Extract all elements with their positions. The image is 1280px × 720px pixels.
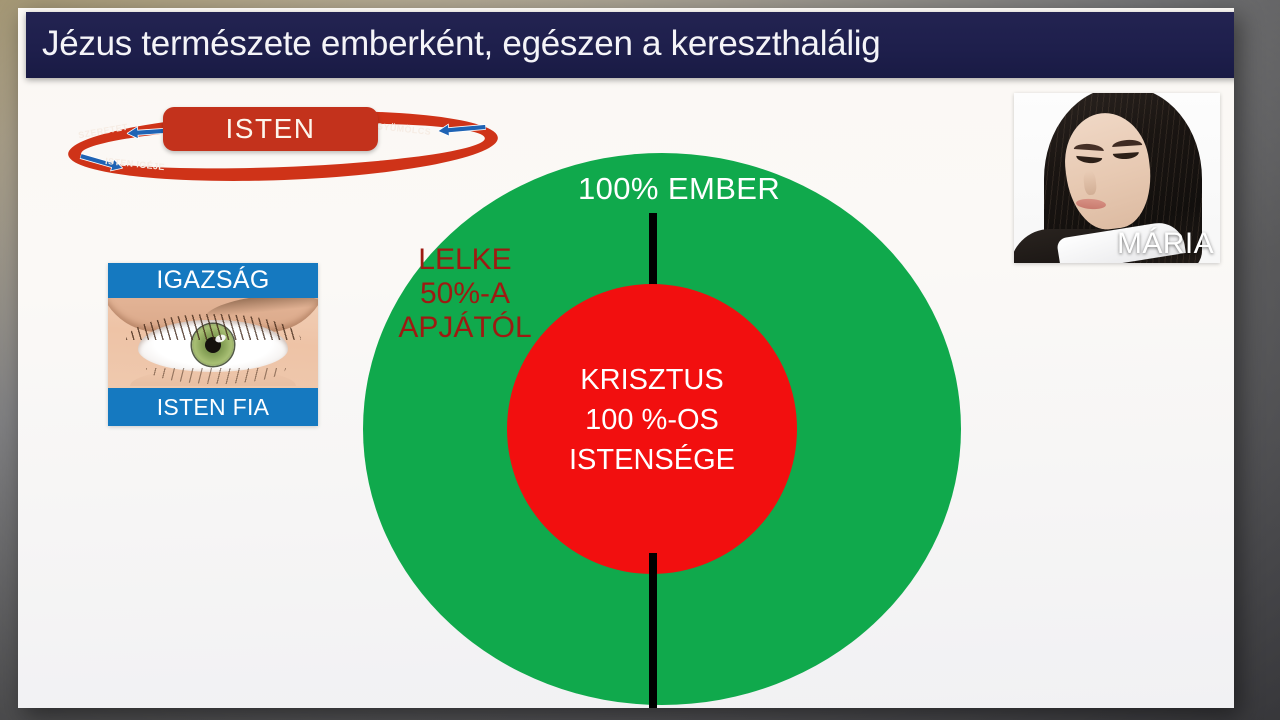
eye-photo	[108, 298, 318, 388]
truth-card: IGAZSÁG ISTEN FIA	[108, 263, 318, 426]
presentation-stage: Jézus természete emberként, egészen a ke…	[0, 0, 1280, 720]
isten-center-box: ISTEN	[163, 107, 378, 151]
human-nature-label: 100% EMBER	[578, 171, 780, 207]
maria-card: MÁRIA	[1014, 93, 1220, 263]
truth-card-top-bar: IGAZSÁG	[108, 263, 318, 298]
divine-nature-label: KRISZTUS 100 %-OS ISTENSÉGE	[507, 360, 797, 480]
truth-card-bottom-bar: ISTEN FIA	[108, 388, 318, 426]
divine-label-line-3: ISTENSÉGE	[507, 440, 797, 480]
maria-label: MÁRIA	[1117, 227, 1214, 261]
divider-line-bottom	[649, 553, 657, 708]
truth-card-bottom-label: ISTEN FIA	[157, 394, 270, 421]
divine-label-line-2: 100 %-OS	[507, 400, 797, 440]
divine-label-line-1: KRISZTUS	[507, 360, 797, 400]
slide-title-bar: Jézus természete emberként, egészen a ke…	[26, 12, 1234, 78]
soul-label-line-1: LELKE	[390, 243, 540, 277]
isten-center-label: ISTEN	[226, 113, 316, 145]
soul-label-line-2: 50%-A	[390, 277, 540, 311]
soul-label-line-3: APJÁTÓL	[390, 311, 540, 345]
page-title: Jézus természete emberként, egészen a ke…	[42, 24, 880, 64]
soul-label: LELKE 50%-A APJÁTÓL	[390, 243, 540, 345]
truth-card-top-label: IGAZSÁG	[156, 266, 269, 295]
slide-canvas: Jézus természete emberként, egészen a ke…	[18, 8, 1234, 708]
isten-diagram: SZERETET GYÜMÖLCS ISTEN IGÉJE ISTEN	[50, 104, 510, 194]
